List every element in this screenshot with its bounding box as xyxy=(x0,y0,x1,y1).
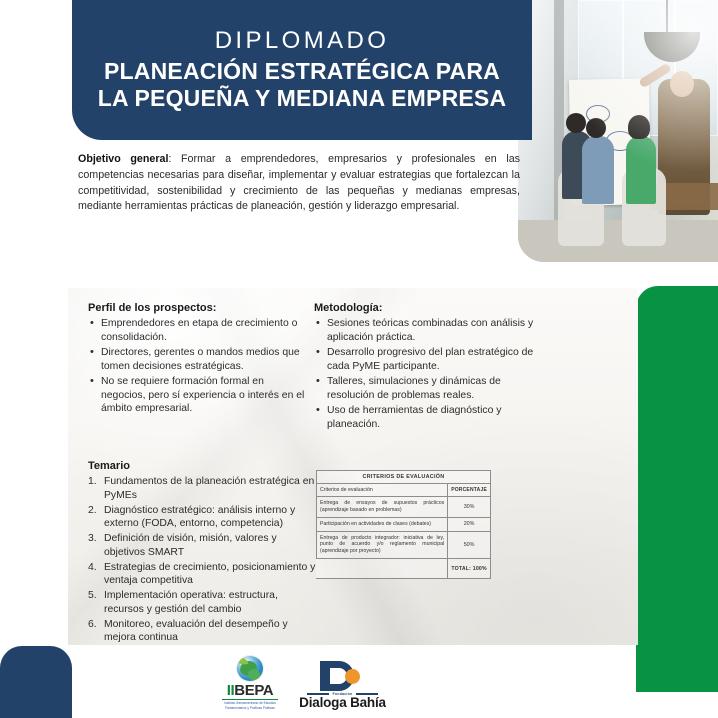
list-item: Talleres, simulaciones y dinámicas de re… xyxy=(314,375,550,402)
percentage-cell: 30% xyxy=(448,497,491,518)
list-item: Estrategias de crecimiento, posicionamie… xyxy=(88,561,316,588)
temario-section: Temario Fundamentos de la planeación est… xyxy=(88,460,316,646)
percentage-cell: 20% xyxy=(448,517,491,531)
content-layer: Perfil de los prospectos: Emprendedores … xyxy=(0,0,718,718)
list-item: Directores, gerentes o mandos medios que… xyxy=(88,346,310,373)
list-item: Emprendedores en etapa de crecimiento o … xyxy=(88,317,310,344)
globe-icon xyxy=(237,656,263,681)
list-item: Sesiones teóricas combinadas con análisi… xyxy=(314,317,550,344)
temario-list: Fundamentos de la planeación estratégica… xyxy=(88,475,316,645)
leaf-icon xyxy=(237,656,249,668)
criteria-cell: Entrega de ensayos de supuestos práctico… xyxy=(317,497,448,518)
objective-paragraph: Objetivo general: Formar a emprendedores… xyxy=(78,152,520,215)
list-item: Definición de visión, misión, valores y … xyxy=(88,532,316,559)
list-item: Uso de herramientas de diagnóstico y pla… xyxy=(314,404,550,431)
iibepa-rest: BEPA xyxy=(234,682,273,699)
metodologia-section: Metodología: Sesiones teóricas combinada… xyxy=(314,302,550,433)
list-item: No se requiere formación formal en negoc… xyxy=(88,375,310,416)
flyer-page: DIPLOMADO PLANEACIÓN ESTRATÉGICA PARA LA… xyxy=(0,0,718,718)
table-row: Entrega de ensayos de supuestos práctico… xyxy=(317,497,491,518)
total-cell: TOTAL: 100% xyxy=(448,559,491,579)
list-item: Monitoreo, evaluación del desempeño y me… xyxy=(88,618,316,645)
criteria-table-title: CRITERIOS DE EVALUACIÓN xyxy=(317,471,491,484)
divider xyxy=(222,699,278,700)
percentage-cell: 50% xyxy=(448,531,491,559)
table-row: Entrega de producto integrador: iniciati… xyxy=(317,531,491,559)
temario-heading: Temario xyxy=(88,460,316,472)
iibepa-wordmark: IIBEPA xyxy=(227,683,274,698)
col-header-criterio: Criterios de evaluación xyxy=(317,484,448,497)
dialoga-d-mark-icon xyxy=(320,661,366,691)
dialoga-logo: Fundación Dialoga Bahía xyxy=(295,656,390,710)
criteria-cell: Entrega de producto integrador: iniciati… xyxy=(317,531,448,559)
criteria-table-wrap: CRITERIOS DE EVALUACIÓN Criterios de eva… xyxy=(316,470,491,579)
perfil-heading: Perfil de los prospectos: xyxy=(88,302,310,314)
list-item: Fundamentos de la planeación estratégica… xyxy=(88,475,316,502)
iibepa-logo: IIBEPA Instituto Iberoamericano de Estud… xyxy=(215,656,285,710)
perfil-list: Emprendedores en etapa de crecimiento o … xyxy=(88,317,310,416)
objective-label: Objetivo general xyxy=(78,153,168,165)
criteria-table: CRITERIOS DE EVALUACIÓN Criterios de eva… xyxy=(316,470,491,579)
list-item: Desarrollo progresivo del plan estratégi… xyxy=(314,346,550,373)
list-item: Diagnóstico estratégico: análisis intern… xyxy=(88,504,316,531)
perfil-section: Perfil de los prospectos: Emprendedores … xyxy=(88,302,310,418)
spacer-cell xyxy=(317,559,448,579)
orange-dot-icon xyxy=(345,669,360,684)
table-row: Participación en actividades de clases (… xyxy=(317,517,491,531)
table-row: CRITERIOS DE EVALUACIÓN xyxy=(317,471,491,484)
metodologia-heading: Metodología: xyxy=(314,302,550,314)
dialoga-wordmark: Dialoga Bahía xyxy=(299,696,386,710)
logo-row: IIBEPA Instituto Iberoamericano de Estud… xyxy=(215,654,400,710)
list-item: Implementación operativa: estructura, re… xyxy=(88,589,316,616)
iibepa-subtitle: Instituto Iberoamericano de Estudios Par… xyxy=(219,701,281,710)
table-row-total: TOTAL: 100% xyxy=(317,559,491,579)
metodologia-list: Sesiones teóricas combinadas con análisi… xyxy=(314,317,550,431)
col-header-porcentaje: PORCENTAJE xyxy=(448,484,491,497)
table-row: Criterios de evaluación PORCENTAJE xyxy=(317,484,491,497)
criteria-cell: Participación en actividades de clases (… xyxy=(317,517,448,531)
